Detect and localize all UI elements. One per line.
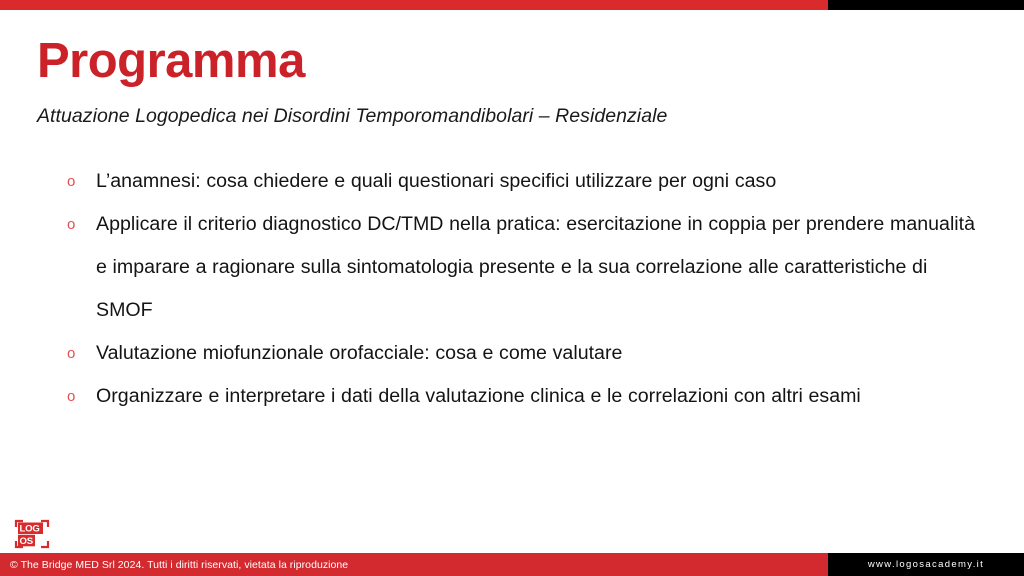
page-subtitle: Attuazione Logopedica nei Disordini Temp… — [37, 105, 667, 128]
top-accent-bar-red-segment — [0, 0, 828, 10]
page-title: Programma — [37, 36, 305, 87]
list-item: o Organizzare e interpretare i dati dell… — [64, 375, 984, 418]
list-item: o Valutazione miofunzionale orofacciale:… — [64, 332, 984, 375]
list-item: o Applicare il criterio diagnostico DC/T… — [64, 203, 984, 332]
footer-bar: © The Bridge MED Srl 2024. Tutti i dirit… — [0, 553, 1024, 576]
logos-bracket-icon: LOG OS — [14, 519, 50, 549]
footer-website-section: www.logosacademy.it — [828, 553, 1024, 576]
top-accent-bar-black-segment — [828, 0, 1024, 10]
list-item-label: Valutazione miofunzionale orofacciale: c… — [96, 332, 984, 375]
list-item-label: Organizzare e interpretare i dati della … — [96, 375, 984, 418]
bullet-marker-icon: o — [64, 332, 96, 375]
footer-copyright-section: © The Bridge MED Srl 2024. Tutti i dirit… — [0, 553, 828, 576]
svg-text:OS: OS — [20, 536, 34, 547]
footer-website-text: www.logosacademy.it — [868, 559, 984, 570]
top-accent-bar — [0, 0, 1024, 10]
list-item-label: L’anamnesi: cosa chiedere e quali questi… — [96, 160, 984, 203]
footer-copyright-text: © The Bridge MED Srl 2024. Tutti i dirit… — [0, 559, 348, 571]
bullet-marker-icon: o — [64, 203, 96, 246]
list-item: o L’anamnesi: cosa chiedere e quali ques… — [64, 160, 984, 203]
bullet-marker-icon: o — [64, 160, 96, 203]
list-item-label: Applicare il criterio diagnostico DC/TMD… — [96, 203, 984, 332]
svg-text:LOG: LOG — [20, 524, 40, 535]
agenda-list: o L’anamnesi: cosa chiedere e quali ques… — [64, 160, 984, 418]
logos-logo: LOG OS — [14, 519, 50, 549]
bullet-marker-icon: o — [64, 375, 96, 418]
slide-canvas: Programma Attuazione Logopedica nei Diso… — [0, 0, 1024, 576]
